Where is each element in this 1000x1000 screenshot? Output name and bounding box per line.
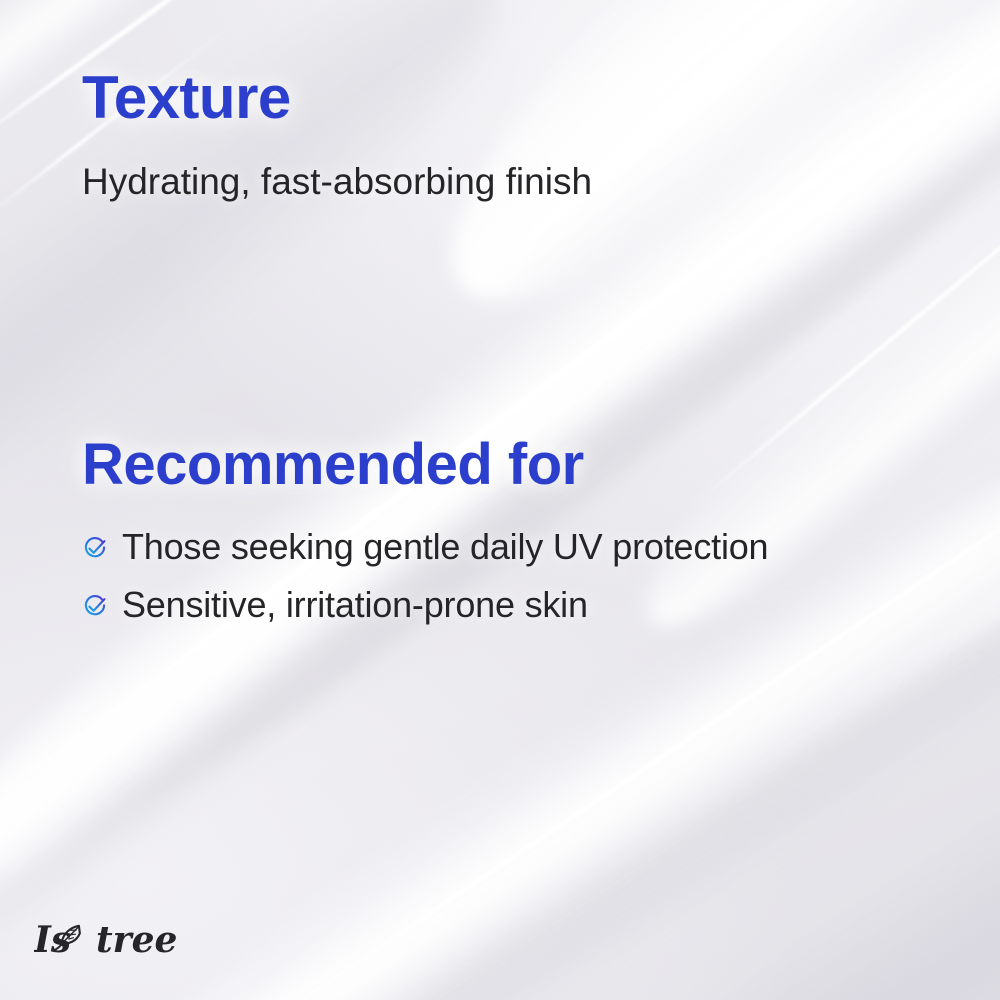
logo-text-part-2: tree xyxy=(96,919,177,961)
list-item: Those seeking gentle daily UV protection xyxy=(82,527,768,567)
recommended-for-heading: Recommended for xyxy=(82,436,768,494)
brand-logo: Is tree xyxy=(34,912,184,964)
check-circle-icon xyxy=(82,594,108,620)
section-recommended-for: Recommended for T xyxy=(82,436,768,644)
recommended-for-list: Those seeking gentle daily UV protection xyxy=(82,527,768,626)
content-area: Texture Hydrating, fast-absorbing finish… xyxy=(0,0,1000,1000)
texture-subtitle: Hydrating, fast-absorbing finish xyxy=(82,162,592,203)
texture-heading: Texture xyxy=(82,68,592,128)
list-item-label: Those seeking gentle daily UV protection xyxy=(122,527,768,567)
list-item: Sensitive, irritation-prone skin xyxy=(82,585,768,625)
product-infographic: Texture Hydrating, fast-absorbing finish… xyxy=(0,0,1000,1000)
isntree-logo-mark: Is tree xyxy=(34,912,184,964)
section-texture: Texture Hydrating, fast-absorbing finish xyxy=(82,68,592,203)
check-circle-icon xyxy=(82,536,108,562)
list-item-label: Sensitive, irritation-prone skin xyxy=(122,585,588,625)
